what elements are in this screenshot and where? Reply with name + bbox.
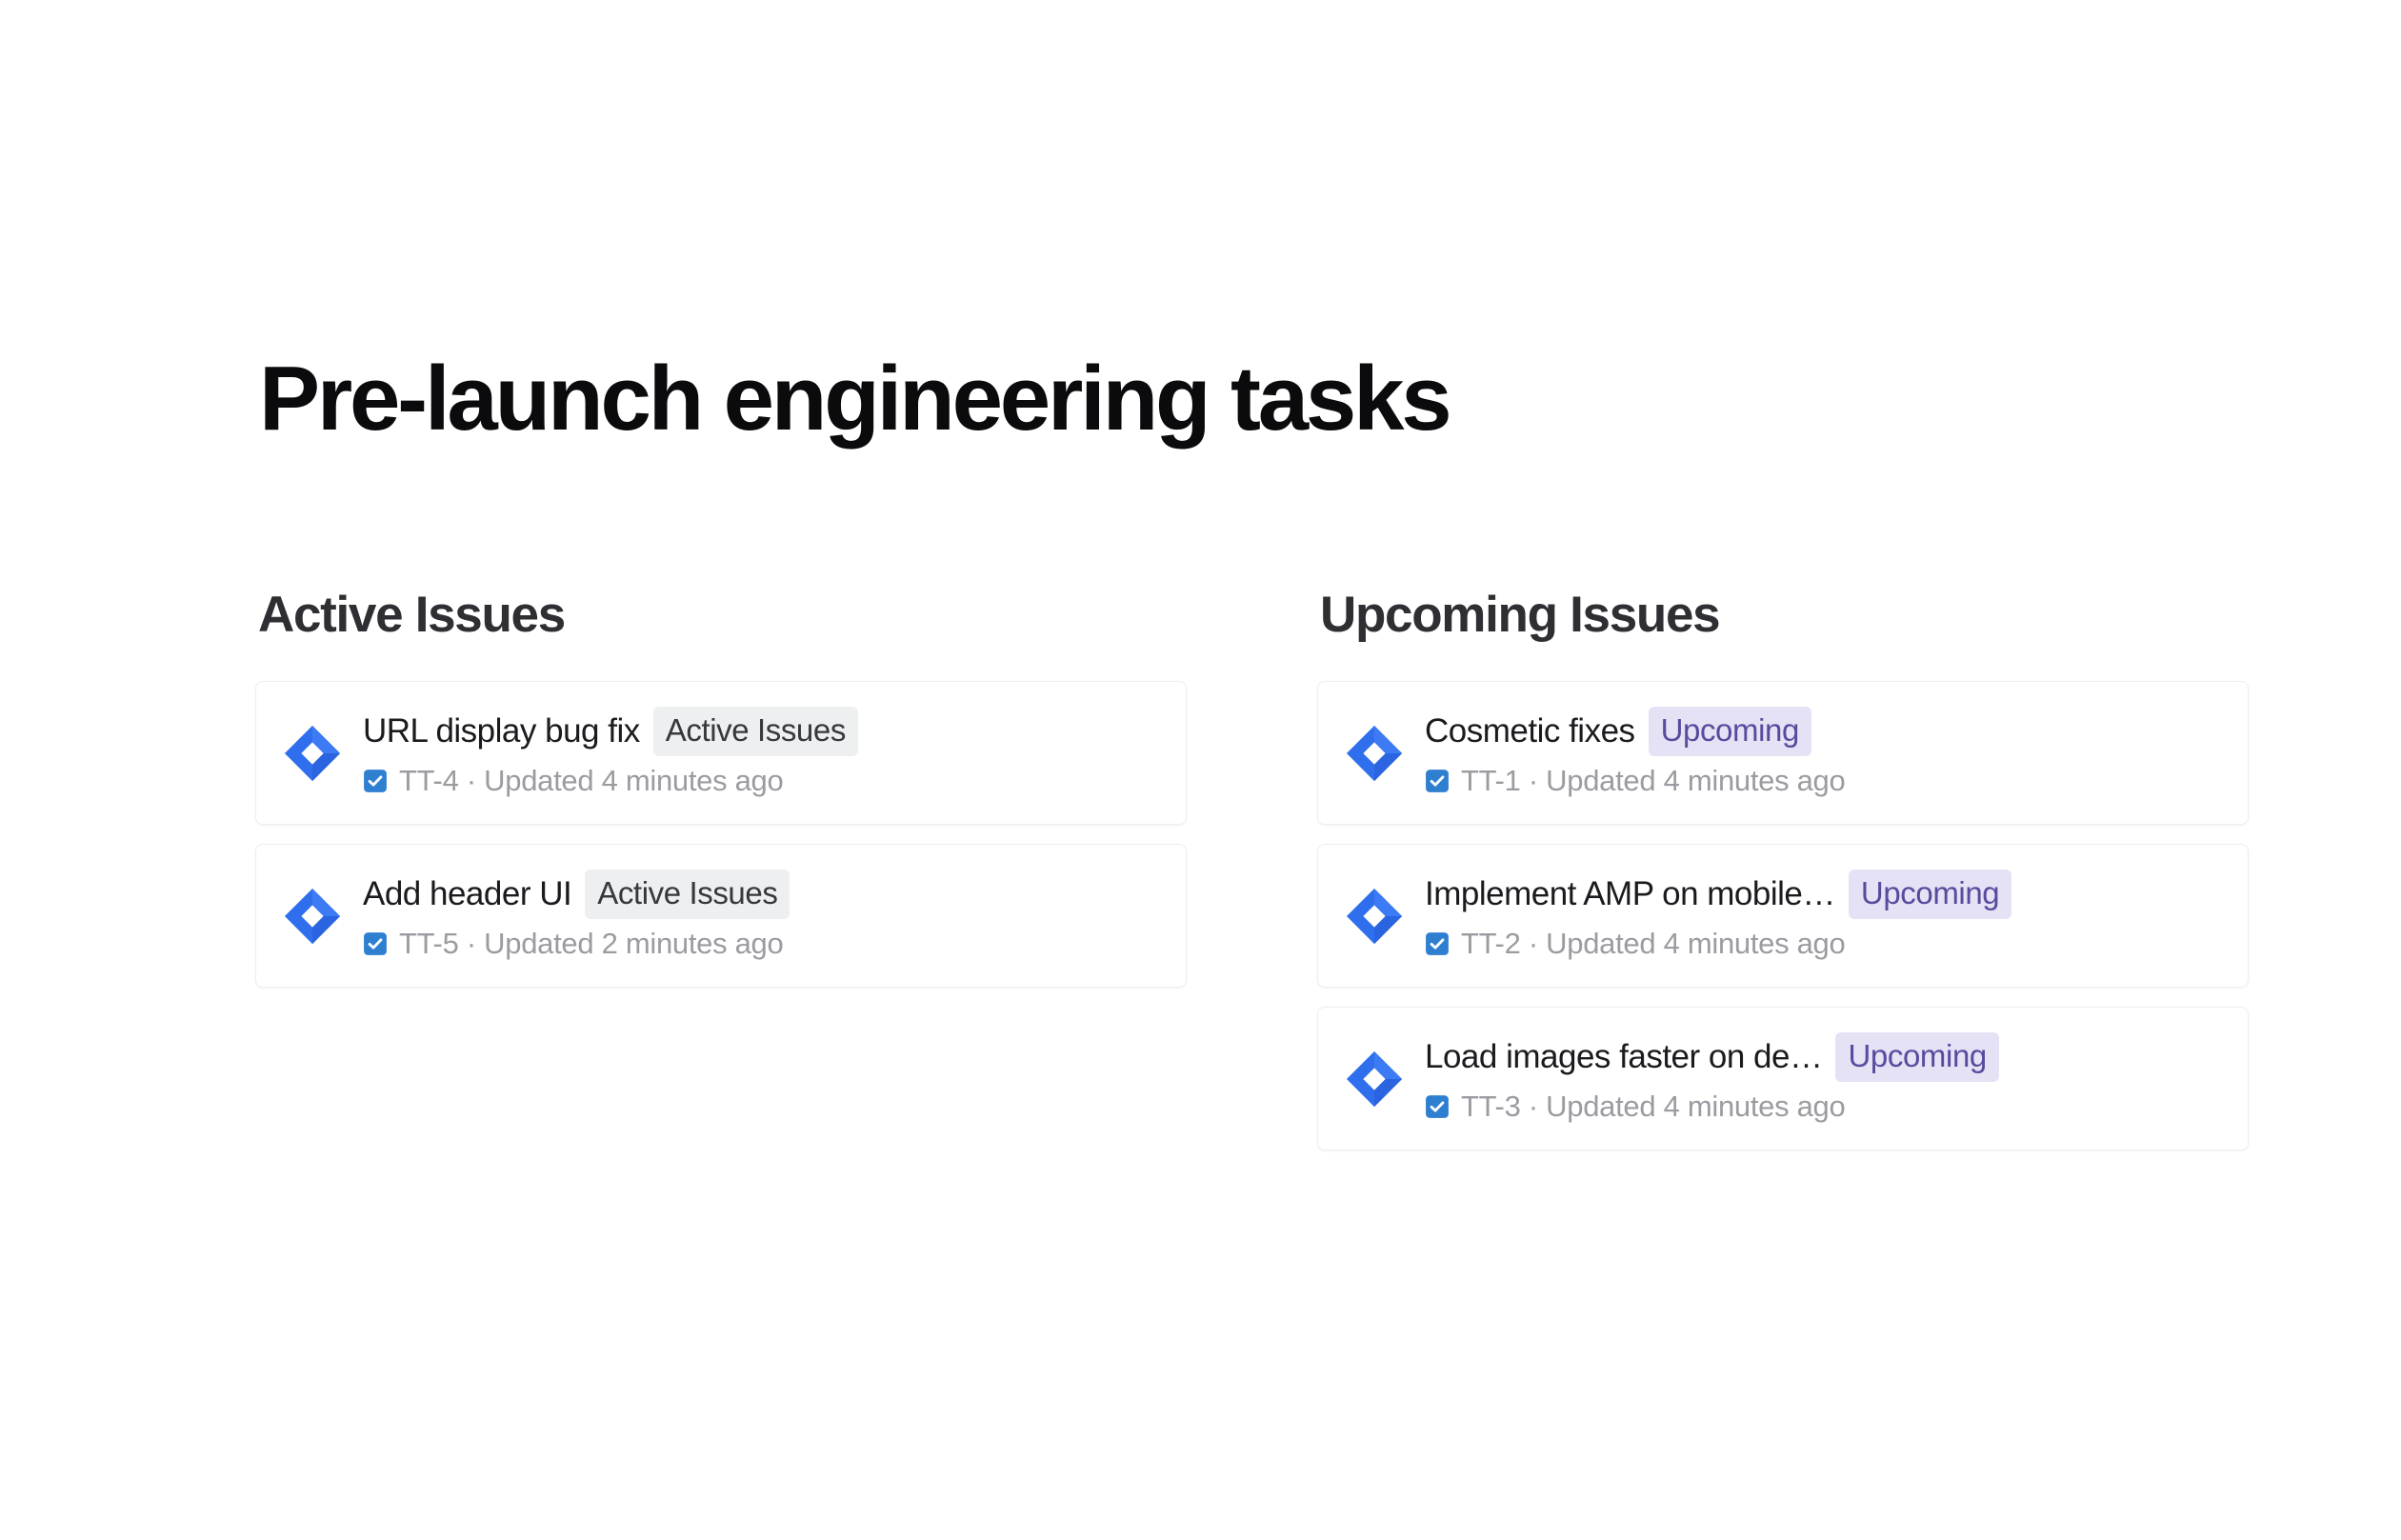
- jira-icon: [283, 887, 342, 946]
- issue-card[interactable]: Implement AMP on mobile… Upcoming TT-2 ·…: [1317, 844, 2249, 988]
- issue-title[interactable]: Cosmetic fixes: [1425, 711, 1635, 751]
- issue-card-meta-row: TT-2 · Updated 4 minutes ago: [1425, 926, 2231, 962]
- issue-meta: TT-4 · Updated 4 minutes ago: [399, 763, 783, 799]
- task-checkbox-icon: [1425, 769, 1450, 793]
- issue-card-header: Load images faster on de… Upcoming: [1425, 1032, 2231, 1082]
- status-badge: Active Issues: [653, 707, 858, 756]
- issue-card-header: URL display bug fix Active Issues: [363, 707, 1163, 756]
- issue-title[interactable]: Load images faster on de…: [1425, 1037, 1822, 1077]
- task-checkbox-icon: [1425, 931, 1450, 956]
- issue-card-body: Load images faster on de… Upcoming TT-3 …: [1425, 1032, 2231, 1125]
- page-title: Pre-launch engineering tasks: [259, 347, 1449, 451]
- issue-card-meta-row: TT-3 · Updated 4 minutes ago: [1425, 1089, 2231, 1125]
- status-badge: Upcoming: [1849, 870, 2011, 919]
- issue-card[interactable]: Load images faster on de… Upcoming TT-3 …: [1317, 1007, 2249, 1150]
- issue-card[interactable]: Cosmetic fixes Upcoming TT-1 · Updated 4…: [1317, 681, 2249, 825]
- issue-card-meta-row: TT-1 · Updated 4 minutes ago: [1425, 763, 2231, 799]
- issue-title[interactable]: Add header UI: [363, 874, 571, 914]
- issue-card-body: Add header UI Active Issues TT-5 · Updat…: [363, 870, 1163, 962]
- issue-card-body: Implement AMP on mobile… Upcoming TT-2 ·…: [1425, 870, 2231, 962]
- issue-card[interactable]: URL display bug fix Active Issues TT-4 ·…: [255, 681, 1187, 825]
- column-heading-upcoming: Upcoming Issues: [1320, 586, 2249, 645]
- issue-card-header: Implement AMP on mobile… Upcoming: [1425, 870, 2231, 919]
- card-list-upcoming: Cosmetic fixes Upcoming TT-1 · Updated 4…: [1317, 681, 2249, 1150]
- task-checkbox-icon: [1425, 1094, 1450, 1119]
- issue-columns: Active Issues URL display b: [255, 586, 2255, 1150]
- issue-title[interactable]: URL display bug fix: [363, 711, 640, 751]
- issue-card-meta-row: TT-5 · Updated 2 minutes ago: [363, 926, 1163, 962]
- column-heading-active: Active Issues: [258, 586, 1187, 645]
- page-root: Pre-launch engineering tasks Active Issu…: [0, 0, 2401, 1540]
- issue-card[interactable]: Add header UI Active Issues TT-5 · Updat…: [255, 844, 1187, 988]
- issue-meta: TT-3 · Updated 4 minutes ago: [1461, 1089, 1845, 1125]
- status-badge: Active Issues: [585, 870, 790, 919]
- issue-meta: TT-2 · Updated 4 minutes ago: [1461, 926, 1845, 962]
- issue-card-header: Add header UI Active Issues: [363, 870, 1163, 919]
- issue-meta: TT-5 · Updated 2 minutes ago: [399, 926, 783, 962]
- jira-icon: [1345, 724, 1404, 783]
- issue-card-header: Cosmetic fixes Upcoming: [1425, 707, 2231, 756]
- column-upcoming-issues: Upcoming Issues Cosmetic fi: [1317, 586, 2249, 1150]
- jira-icon: [1345, 1050, 1404, 1109]
- card-list-active: URL display bug fix Active Issues TT-4 ·…: [255, 681, 1187, 988]
- issue-title[interactable]: Implement AMP on mobile…: [1425, 874, 1835, 914]
- issue-card-body: URL display bug fix Active Issues TT-4 ·…: [363, 707, 1163, 799]
- column-active-issues: Active Issues URL display b: [255, 586, 1187, 988]
- issue-card-body: Cosmetic fixes Upcoming TT-1 · Updated 4…: [1425, 707, 2231, 799]
- task-checkbox-icon: [363, 931, 388, 956]
- issue-meta: TT-1 · Updated 4 minutes ago: [1461, 763, 1845, 799]
- status-badge: Upcoming: [1835, 1032, 1998, 1082]
- status-badge: Upcoming: [1649, 707, 1811, 756]
- jira-icon: [1345, 887, 1404, 946]
- jira-icon: [283, 724, 342, 783]
- task-checkbox-icon: [363, 769, 388, 793]
- issue-card-meta-row: TT-4 · Updated 4 minutes ago: [363, 763, 1163, 799]
